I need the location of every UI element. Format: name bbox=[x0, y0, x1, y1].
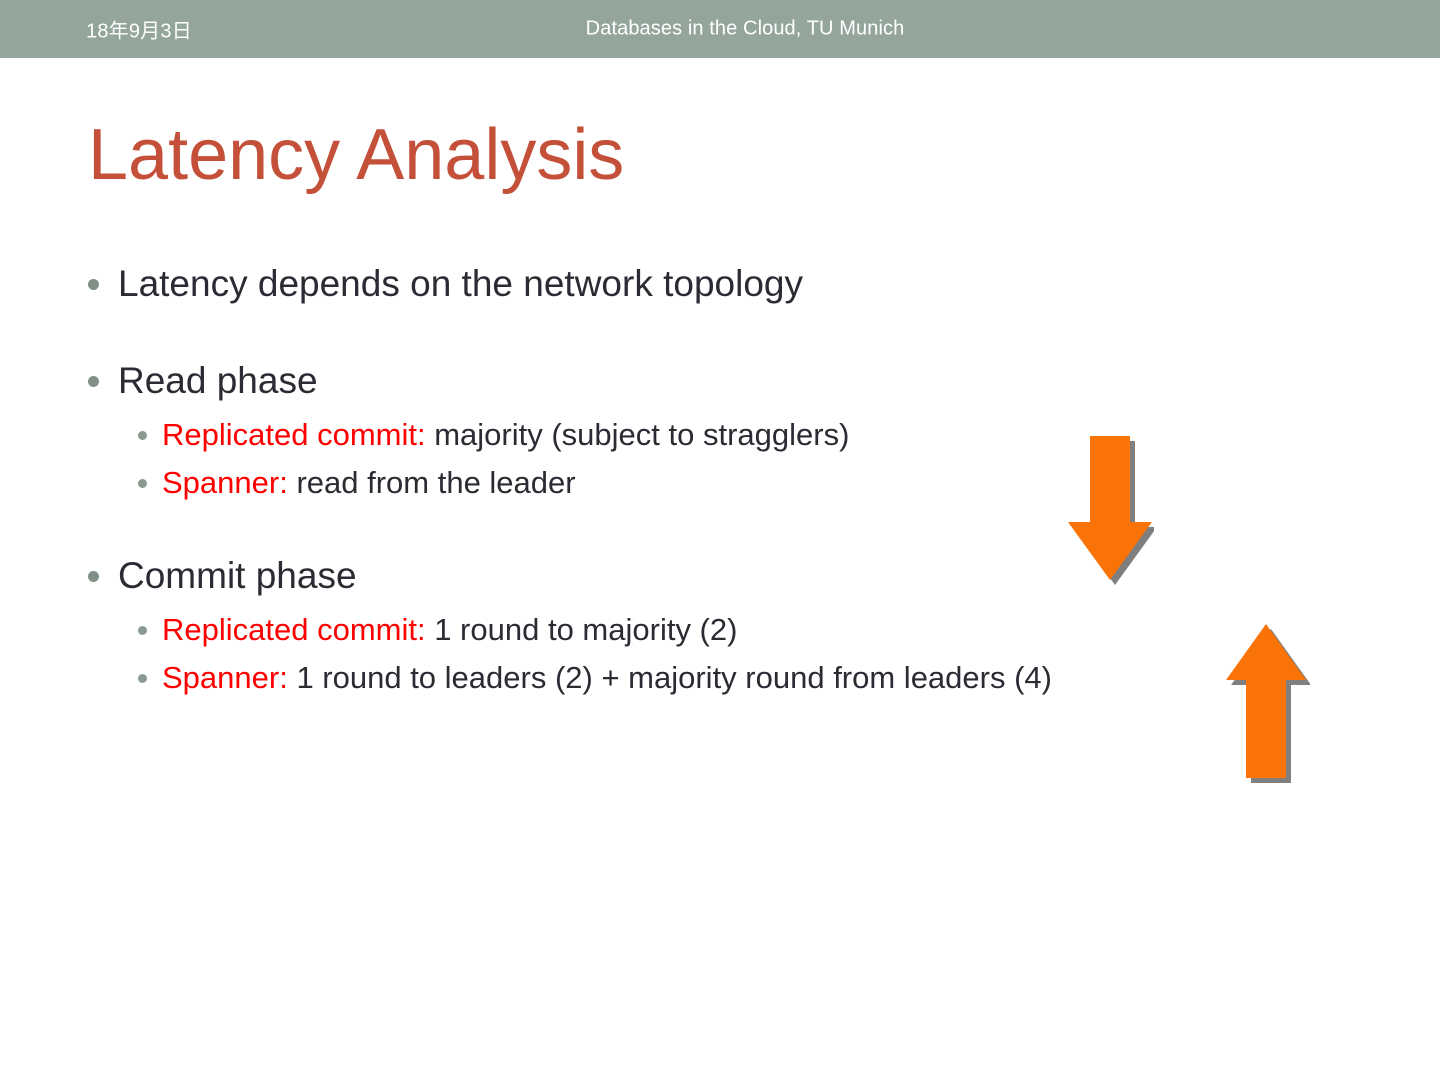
item-label: Spanner: bbox=[162, 465, 288, 500]
item-text: 1 round to leaders (2) + majority round … bbox=[288, 660, 1052, 695]
item-label: Spanner: bbox=[162, 660, 288, 695]
list-item: Replicated commit: 1 round to majority (… bbox=[84, 611, 1384, 648]
section-heading-label: Commit phase bbox=[118, 555, 357, 596]
bullet-intro: Latency depends on the network topology bbox=[84, 262, 1384, 306]
spacer bbox=[84, 597, 1384, 611]
spacer bbox=[84, 454, 1384, 464]
spacer bbox=[84, 649, 1384, 659]
bullet-intro-text: Latency depends on the network topology bbox=[118, 263, 803, 304]
item-label: Replicated commit: bbox=[162, 612, 426, 647]
item-label: Replicated commit: bbox=[162, 417, 426, 452]
header-presentation-title: Databases in the Cloud, TU Munich bbox=[0, 18, 1440, 41]
spacer bbox=[84, 306, 1384, 359]
page-title: Latency Analysis bbox=[88, 118, 624, 194]
item-text: 1 round to majority (2) bbox=[426, 612, 738, 647]
list-item: Replicated commit: majority (subject to … bbox=[84, 416, 1384, 453]
item-text: majority (subject to stragglers) bbox=[426, 417, 850, 452]
header-bar: 18年9月3日 Databases in the Cloud, TU Munic… bbox=[0, 0, 1440, 58]
section-heading-label: Read phase bbox=[118, 360, 318, 401]
item-text: read from the leader bbox=[288, 465, 576, 500]
arrow-up-icon bbox=[1222, 618, 1310, 786]
section-heading-read-phase: Read phase bbox=[84, 359, 1384, 403]
section-heading-commit-phase: Commit phase bbox=[84, 554, 1384, 598]
spacer bbox=[84, 402, 1384, 416]
list-item: Spanner: 1 round to leaders (2) + majori… bbox=[84, 659, 1384, 696]
list-item: Spanner: read from the leader bbox=[84, 464, 1384, 501]
slide-body: Latency depends on the network topology … bbox=[84, 262, 1384, 696]
spacer bbox=[84, 501, 1384, 554]
arrow-down-icon bbox=[1062, 428, 1154, 586]
